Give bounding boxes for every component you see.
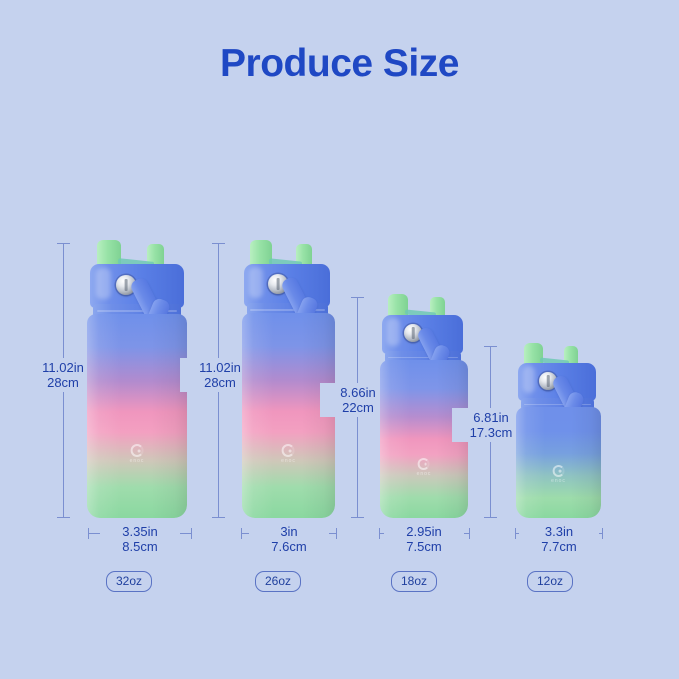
body-highlight-12oz [516, 407, 601, 518]
brand-wordmark-18oz: enoc [417, 471, 432, 477]
width-line-cap-right-12oz [602, 528, 603, 539]
width-cm-26oz: 7.6cm [253, 539, 325, 554]
width-inches-26oz: 3in [253, 524, 325, 539]
body-highlight-32oz [87, 314, 187, 518]
brand-logo-32oz: enoc [130, 444, 145, 464]
width-label-26oz: 3in 7.6cm [249, 524, 329, 554]
width-line-cap-right-18oz [469, 528, 470, 539]
brand-logo-12oz: enoc [551, 465, 566, 484]
brand-mark-icon-32oz [131, 444, 144, 457]
infographic-canvas: Produce Size 11.02in 28cm [0, 0, 679, 679]
width-cm-12oz: 7.7cm [523, 539, 595, 554]
width-inches-18oz: 2.95in [388, 524, 460, 539]
lid-highlight-26oz [249, 267, 263, 298]
capacity-badge-26oz[interactable]: 26oz [255, 571, 301, 592]
width-label-18oz: 2.95in 7.5cm [384, 524, 464, 554]
brand-logo-18oz: enoc [417, 458, 432, 477]
height-line-cap-bottom-26oz [212, 517, 225, 518]
capacity-badge-18oz[interactable]: 18oz [391, 571, 437, 592]
width-cm-32oz: 8.5cm [104, 539, 176, 554]
bottle-body-32oz: enoc [87, 314, 187, 518]
brand-mark-icon-12oz [553, 465, 565, 477]
width-inches-32oz: 3.35in [104, 524, 176, 539]
width-cm-18oz: 7.5cm [388, 539, 460, 554]
height-line-cap-bottom-12oz [484, 517, 497, 518]
height-line-cap-bottom-18oz [351, 517, 364, 518]
brand-wordmark-32oz: enoc [130, 458, 145, 464]
bottle-image-12oz: enoc [514, 343, 610, 518]
lid-highlight-32oz [96, 268, 111, 300]
height-line-cap-bottom-32oz [57, 517, 70, 518]
bottle-image-18oz: enoc [378, 294, 474, 518]
brand-mark-icon-18oz [418, 458, 430, 470]
lid-highlight-18oz [387, 318, 400, 346]
brand-logo-26oz: enoc [281, 444, 296, 464]
bottle-image-32oz: enoc [85, 240, 195, 518]
bottle-body-12oz: enoc [516, 407, 601, 518]
capacity-badge-12oz[interactable]: 12oz [527, 571, 573, 592]
bottle-image-26oz: enoc [240, 240, 342, 518]
width-label-12oz: 3.3in 7.7cm [519, 524, 599, 554]
capacity-badge-32oz[interactable]: 32oz [106, 571, 152, 592]
width-label-32oz: 3.35in 8.5cm [100, 524, 180, 554]
brand-wordmark-12oz: enoc [551, 478, 566, 484]
width-line-cap-right-26oz [336, 528, 337, 539]
width-line-cap-right-32oz [191, 528, 192, 539]
lid-highlight-12oz [523, 366, 535, 393]
width-inches-12oz: 3.3in [523, 524, 595, 539]
brand-wordmark-26oz: enoc [281, 458, 296, 464]
page-title: Produce Size [0, 42, 679, 86]
brand-mark-icon-26oz [282, 444, 295, 457]
